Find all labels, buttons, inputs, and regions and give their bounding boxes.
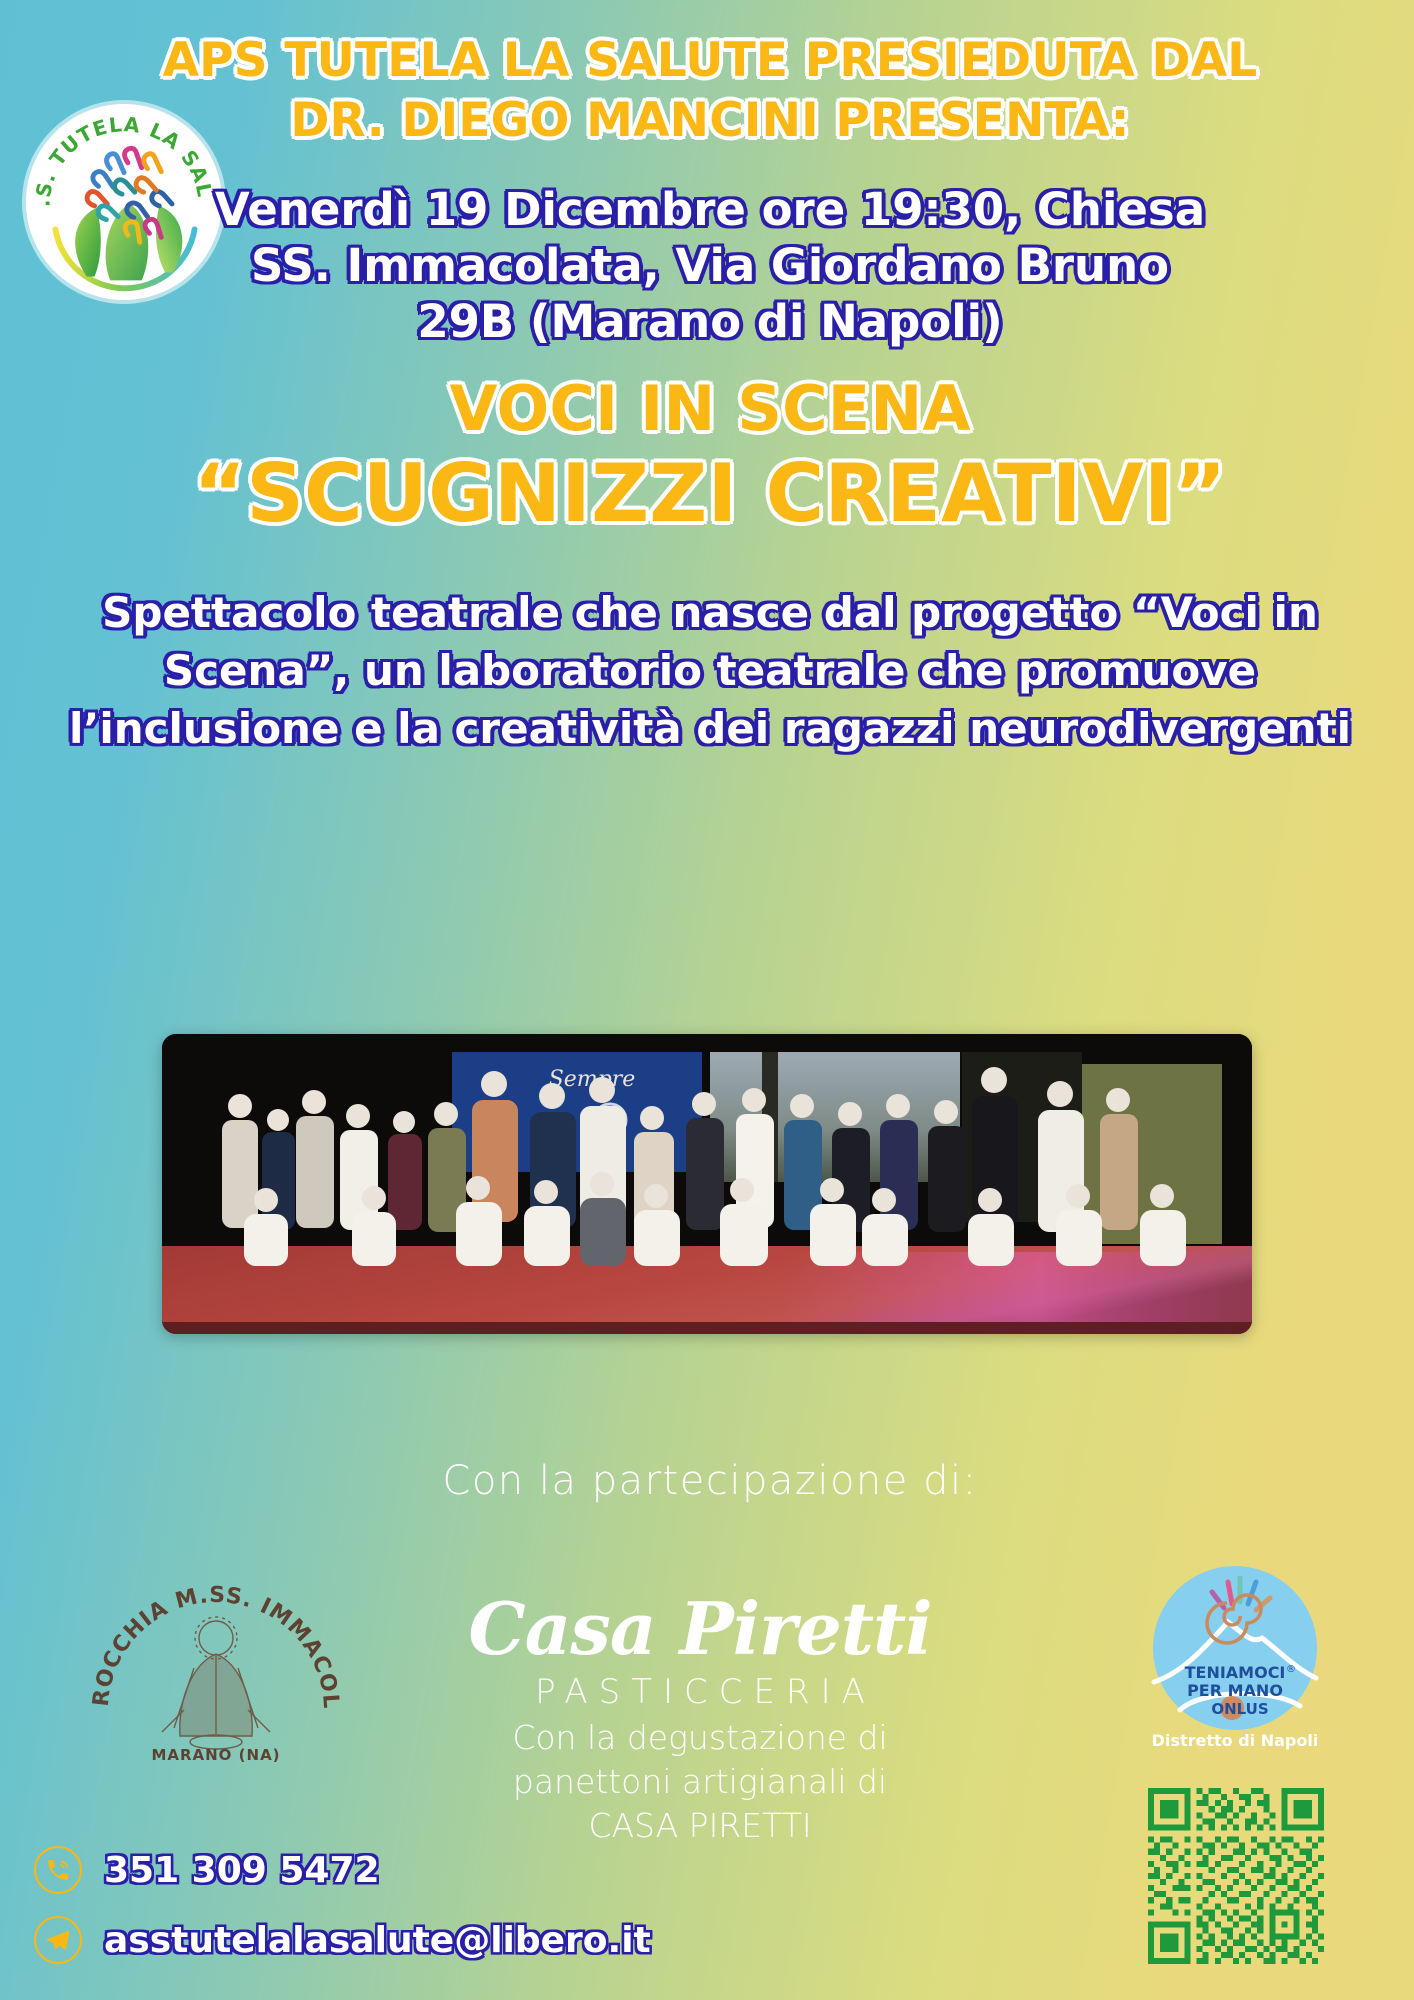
event-date-line2: SS. Immacolata, Via Giordano Bruno xyxy=(130,238,1290,294)
participation-label: Con la partecipazione di: xyxy=(130,1458,1290,1504)
event-date-line3: 29B (Marano di Napoli) xyxy=(130,294,1290,350)
teniamoci-line1: TENIAMOCI xyxy=(1185,1663,1286,1682)
contact-phone-number: 351 309 5472 xyxy=(104,1850,380,1891)
parish-logo: PARROCCHIA M.SS. IMMACOLATA MARANO (NA) xyxy=(66,1560,366,1765)
contact-email[interactable]: asstutelalasalute@libero.it xyxy=(34,1916,651,1964)
phone-icon xyxy=(34,1846,82,1894)
piretti-note-line2: panettoni artigianali di xyxy=(380,1760,1020,1804)
show-title-line2: “SCUGNIZZI CREATIVI” xyxy=(130,448,1290,540)
show-title-line1: VOCI IN SCENA xyxy=(130,374,1290,444)
teniamoci-district: Distretto di Napoli xyxy=(1152,1731,1319,1750)
piretti-note-line3: CASA PIRETTI xyxy=(380,1804,1020,1848)
svg-text:®: ® xyxy=(1286,1664,1296,1675)
contact-phone[interactable]: 351 309 5472 xyxy=(34,1846,380,1894)
event-datetime-venue: Venerdì 19 Dicembre ore 19:30, Chiesa SS… xyxy=(130,182,1290,350)
qr-code[interactable] xyxy=(1148,1788,1324,1964)
casa-piretti-script: Casa Piretti xyxy=(420,1590,980,1668)
event-date-line1: Venerdì 19 Dicembre ore 19:30, Chiesa xyxy=(130,182,1290,238)
poster-title-line2: DR. DIEGO MANCINI PRESENTA: xyxy=(130,92,1290,150)
cast-group-photo: Sempre xyxy=(162,1034,1252,1334)
poster-title-line1: APS TUTELA LA SALUTE PRESIEDUTA DAL xyxy=(130,32,1290,90)
show-description: Spettacolo teatrale che nasce dal proget… xyxy=(50,584,1370,758)
poster-root: A.P.S. TUTELA LA SALUTE xyxy=(0,0,1414,2000)
casa-piretti-sub: PASTICCERIA xyxy=(420,1672,980,1712)
teniamoci-per-mano-logo: TENIAMOCI PER MANO ONLUS ® Distretto di … xyxy=(1140,1560,1330,1755)
svg-text:MARANO (NA): MARANO (NA) xyxy=(151,1746,280,1764)
casa-piretti-note: Con la degustazione di panettoni artigia… xyxy=(380,1716,1020,1848)
casa-piretti-logo: Casa Piretti PASTICCERIA xyxy=(420,1590,980,1712)
piretti-note-line1: Con la degustazione di xyxy=(380,1716,1020,1760)
telegram-icon xyxy=(34,1916,82,1964)
contact-email-address: asstutelalasalute@libero.it xyxy=(104,1920,651,1961)
teniamoci-line3: ONLUS xyxy=(1211,1700,1268,1718)
